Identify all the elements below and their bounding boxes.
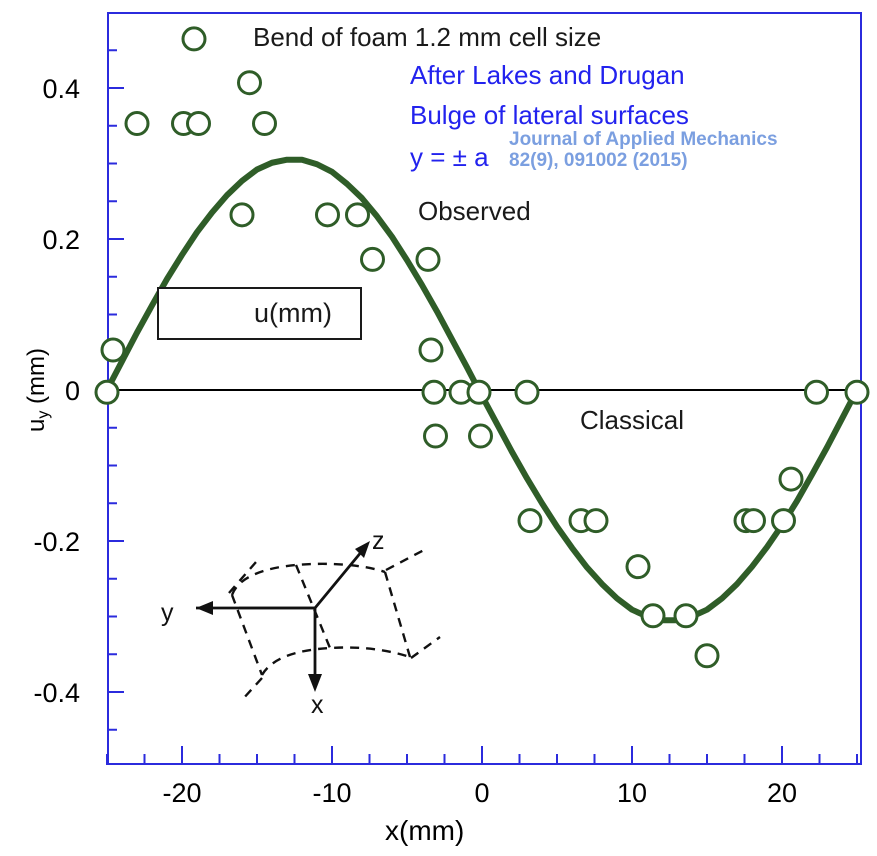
inset-axis-label-z: z	[372, 527, 385, 556]
annotation-bulge: Bulge of lateral surfaces	[410, 100, 689, 131]
y-tick-label: -0.2	[0, 527, 80, 558]
annotation-classical: Classical	[580, 405, 684, 436]
annotation-journal-citation: Journal of Applied Mechanics82(9), 09100…	[509, 130, 778, 171]
y-tick-label: 0.2	[0, 225, 80, 256]
x-tick-label: 20	[737, 778, 827, 809]
x-tick-label: -10	[287, 778, 377, 809]
x-axis-title: x(mm)	[385, 815, 464, 847]
chart-canvas: 0.4 0.2 0 -0.2 -0.4 -20 -10 0 10 20 x(mm…	[0, 0, 877, 856]
y-axis-title: uy (mm)	[23, 330, 53, 450]
y-tick-label: 0.4	[0, 74, 80, 105]
x-tick-label: 10	[587, 778, 677, 809]
x-tick-label: -20	[137, 778, 227, 809]
y-axis-title-main: u	[23, 419, 50, 432]
x-tick-label: 0	[437, 778, 527, 809]
journal-line-1: Journal of Applied Mechanics	[509, 129, 778, 150]
y-axis-title-subscript: y	[35, 411, 52, 419]
annotation-observed: Observed	[418, 196, 531, 227]
inset-axis-label-y: y	[161, 599, 174, 628]
annotation-equation: y = ± a	[410, 142, 489, 173]
journal-line-2: 82(9), 091002 (2015)	[509, 150, 688, 171]
annotation-authors: After Lakes and Drugan	[410, 60, 685, 91]
inset-axis-label-x: x	[311, 691, 324, 720]
annotation-title: Bend of foam 1.2 mm cell size	[253, 22, 601, 53]
y-axis-title-unit: (mm)	[23, 348, 50, 411]
y-tick-label: -0.4	[0, 678, 80, 709]
legend-label: u(mm)	[254, 298, 332, 329]
legend-box[interactable]: u(mm)	[157, 287, 362, 340]
